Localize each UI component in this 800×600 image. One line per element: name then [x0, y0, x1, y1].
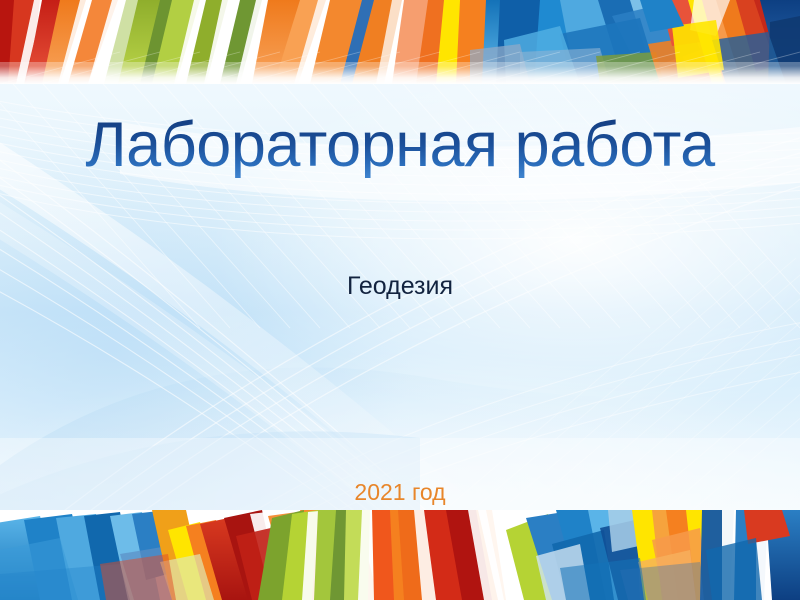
bottom-decorative-band	[0, 510, 800, 600]
slide-year: 2021 год	[0, 479, 800, 506]
slide-title: Лабораторная работа	[0, 112, 800, 178]
slide-subtitle: Геодезия	[0, 272, 800, 301]
top-decorative-band	[0, 0, 800, 84]
presentation-slide: Лабораторная работа Геодезия 2021 год	[0, 0, 800, 600]
